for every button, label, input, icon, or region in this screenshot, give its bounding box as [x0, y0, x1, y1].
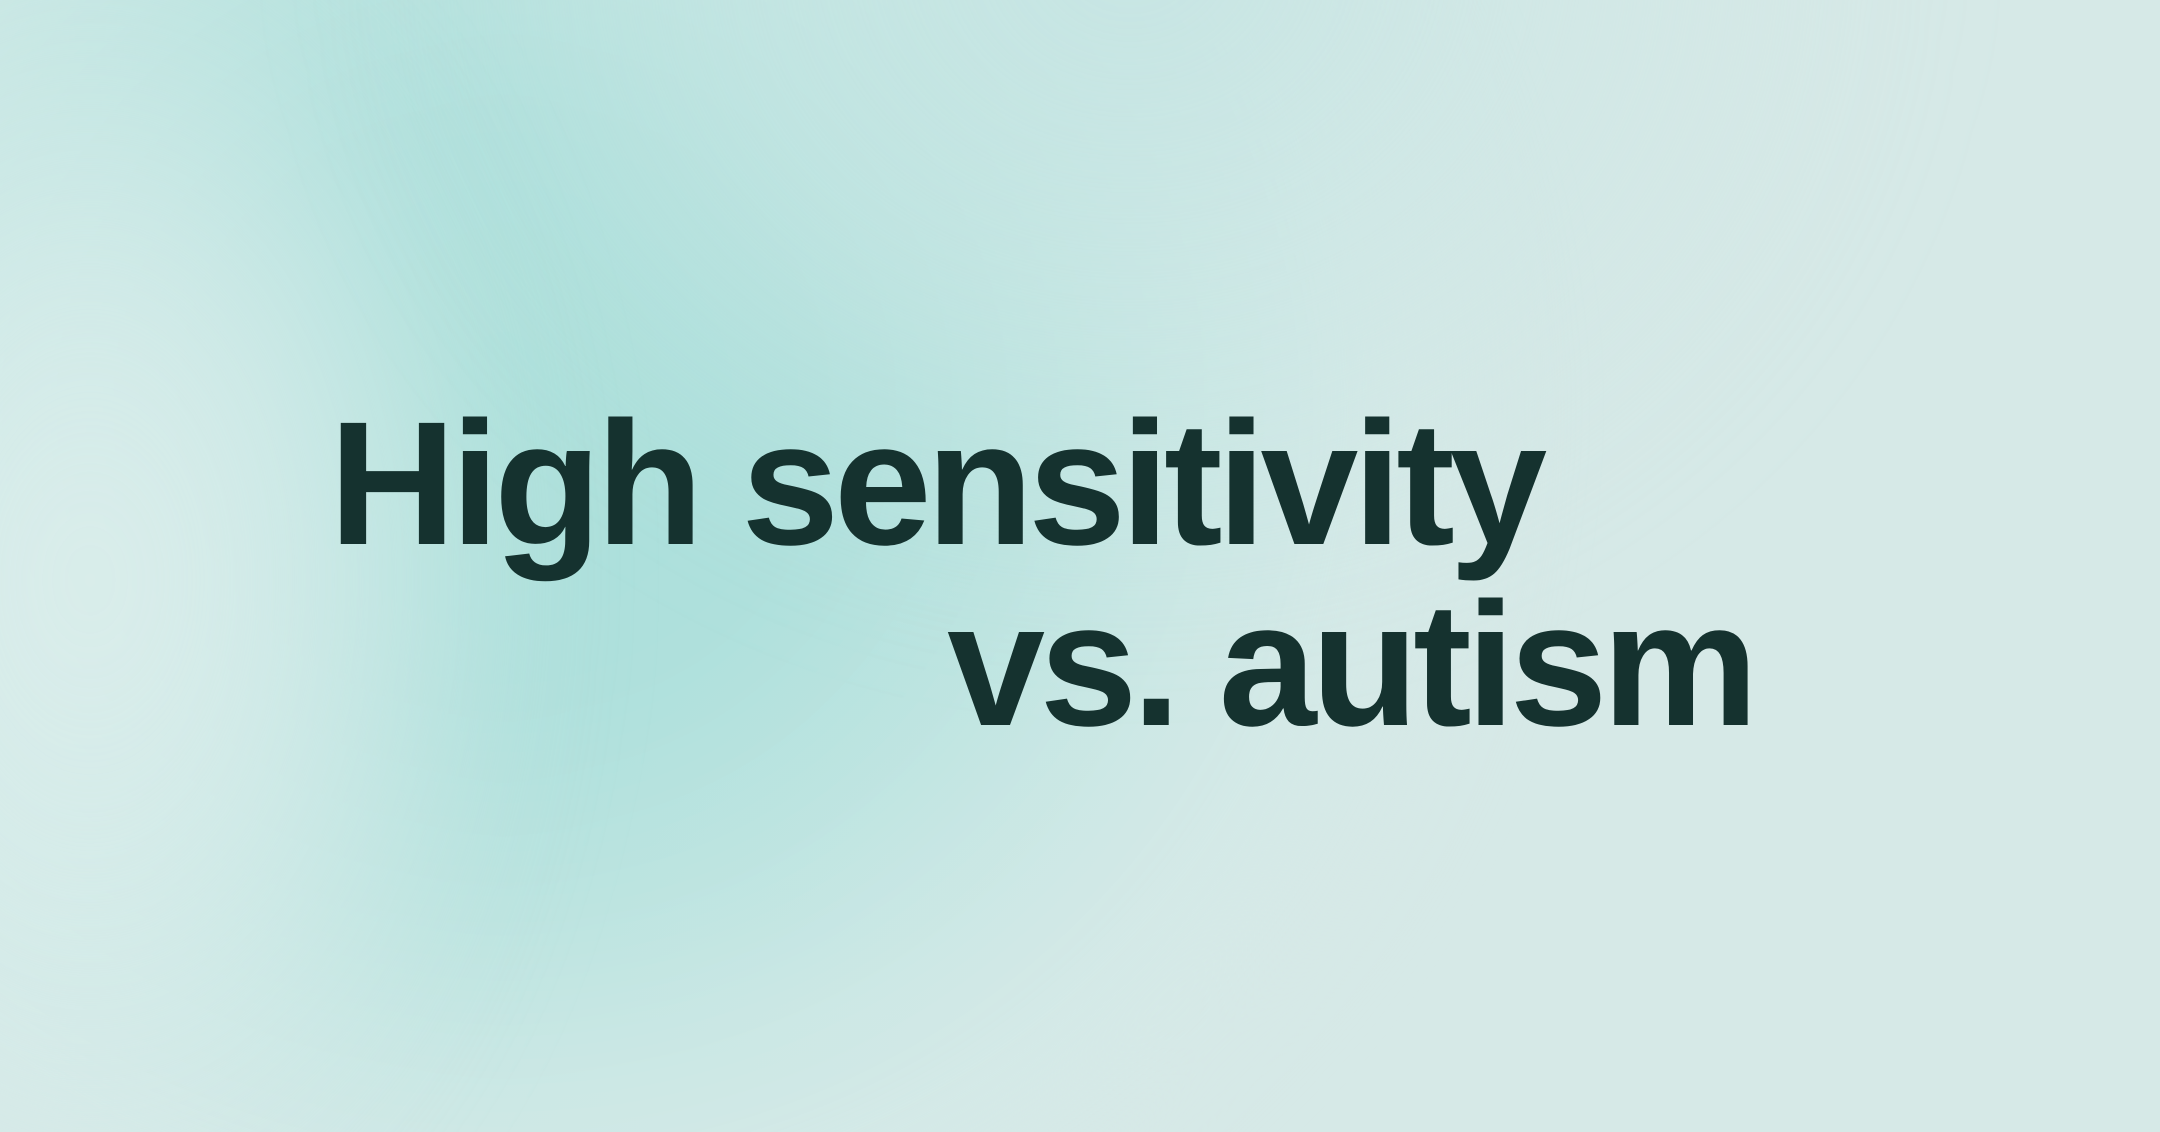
hero-card: High sensitivity vs. autism [0, 0, 2160, 1132]
headline-line-2: vs. autism [0, 577, 1753, 753]
headline-block: High sensitivity vs. autism [0, 0, 2160, 1132]
headline-line-1: High sensitivity [329, 396, 1542, 572]
